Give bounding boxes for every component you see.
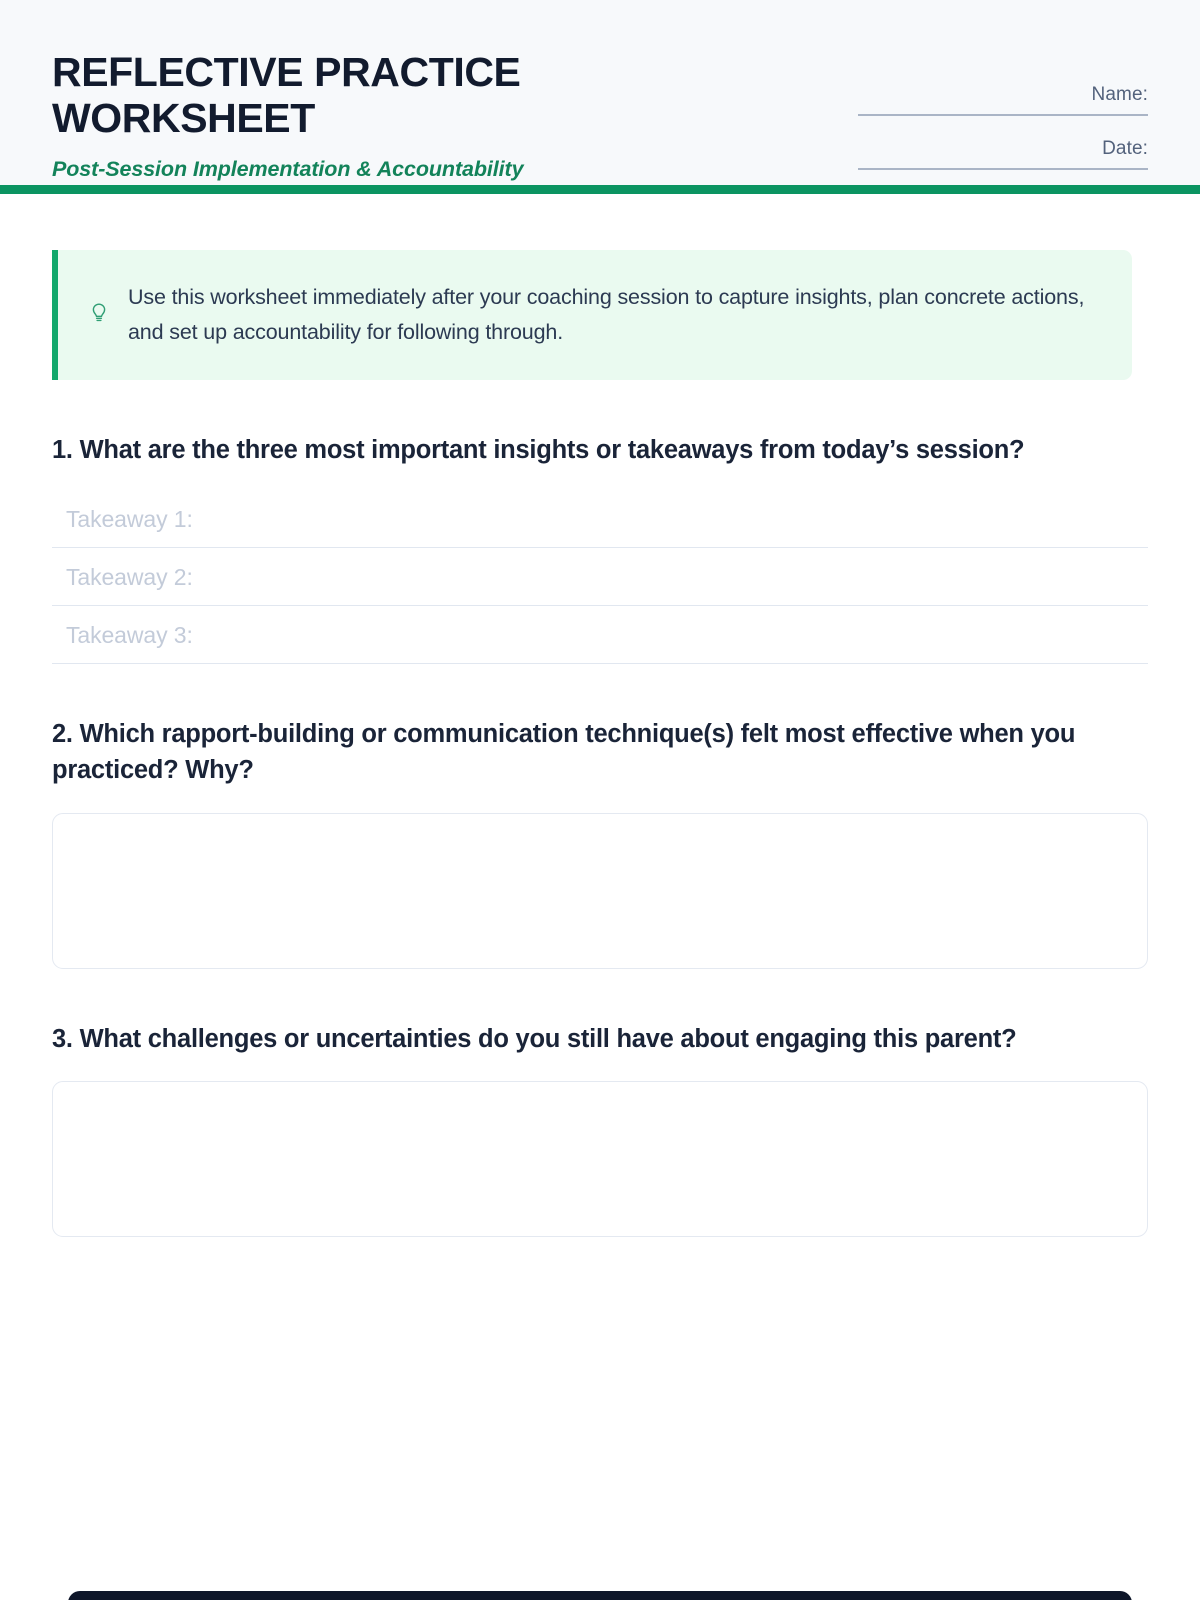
date-field-row: Date: xyxy=(858,138,1148,170)
takeaway-lines: Takeaway 1: Takeaway 2: Takeaway 3: xyxy=(52,490,1148,664)
question-block-2: 2. Which rapport-building or communicati… xyxy=(52,716,1148,968)
question-block-3: 3. What challenges or uncertainties do y… xyxy=(52,1021,1148,1237)
worksheet-page: REFLECTIVE PRACTICE WORKSHEET Post-Sessi… xyxy=(0,0,1200,1600)
page-title: REFLECTIVE PRACTICE WORKSHEET xyxy=(52,50,652,141)
name-field-input[interactable] xyxy=(858,114,1148,116)
name-field-row: Name: xyxy=(858,84,1148,116)
page-subtitle: Post-Session Implementation & Accountabi… xyxy=(52,157,652,182)
header-title-group: REFLECTIVE PRACTICE WORKSHEET Post-Sessi… xyxy=(52,44,652,182)
header-fields-group: Name: Date: xyxy=(858,44,1148,170)
worksheet-content: Use this worksheet immediately after you… xyxy=(0,250,1200,1237)
takeaway-line-2-placeholder: Takeaway 2: xyxy=(66,564,193,590)
lightbulb-icon xyxy=(88,303,110,327)
answer-textarea-3[interactable] xyxy=(52,1081,1148,1237)
takeaway-line-1[interactable]: Takeaway 1: xyxy=(52,490,1148,548)
takeaway-line-1-placeholder: Takeaway 1: xyxy=(66,506,193,532)
question-title-1: 1. What are the three most important ins… xyxy=(52,432,1112,468)
name-field-label: Name: xyxy=(858,84,1148,106)
question-title-3: 3. What challenges or uncertainties do y… xyxy=(52,1021,1112,1057)
answer-textarea-2[interactable] xyxy=(52,813,1148,969)
takeaway-line-3-placeholder: Takeaway 3: xyxy=(66,622,193,648)
instructions-callout: Use this worksheet immediately after you… xyxy=(52,250,1132,380)
date-field-label: Date: xyxy=(858,138,1148,160)
question-title-2: 2. Which rapport-building or communicati… xyxy=(52,716,1112,788)
takeaway-line-2[interactable]: Takeaway 2: xyxy=(52,548,1148,606)
worksheet-header: REFLECTIVE PRACTICE WORKSHEET Post-Sessi… xyxy=(0,0,1200,185)
header-accent-divider xyxy=(0,185,1200,194)
bottom-section-panel xyxy=(68,1591,1132,1600)
date-field-input[interactable] xyxy=(858,168,1148,170)
takeaway-line-3[interactable]: Takeaway 3: xyxy=(52,606,1148,664)
instructions-text: Use this worksheet immediately after you… xyxy=(128,280,1102,350)
question-block-1: 1. What are the three most important ins… xyxy=(52,432,1148,664)
